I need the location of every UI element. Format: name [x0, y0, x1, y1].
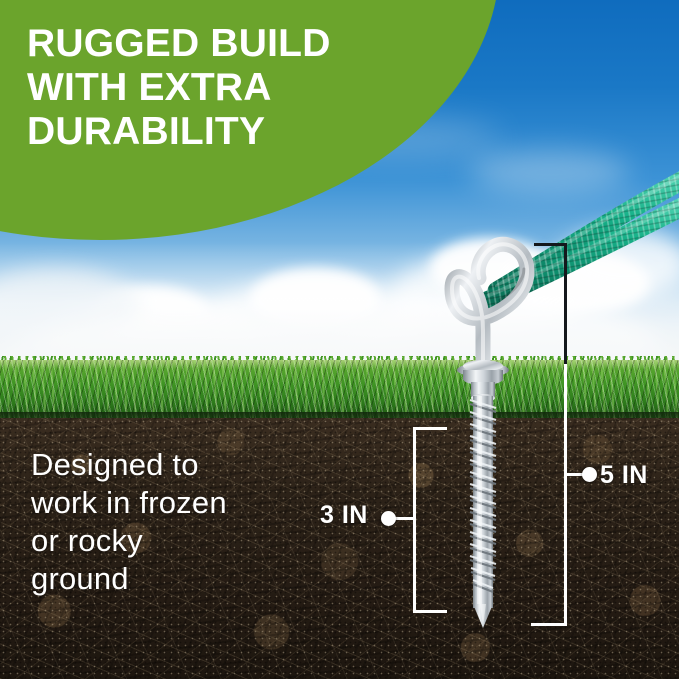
body-copy: Designed to work in frozen or rocky grou… — [31, 446, 331, 598]
bracket-5in-tick-bottom — [531, 623, 567, 626]
headline-line-3: DURABILITY — [27, 110, 417, 154]
body-copy-line-2: work in frozen — [31, 484, 331, 522]
headline-line-2: WITH EXTRA — [27, 66, 417, 110]
body-copy-line-3: or rocky — [31, 522, 331, 560]
body-copy-line-4: ground — [31, 560, 331, 598]
collar-washer — [457, 360, 509, 402]
leader-line-3in — [394, 517, 415, 520]
headline-line-1: RUGGED BUILD — [27, 22, 417, 66]
marketing-image: RUGGED BUILD WITH EXTRA DURABILITY Desig… — [0, 0, 679, 679]
threaded-shaft — [470, 396, 496, 628]
headline: RUGGED BUILD WITH EXTRA DURABILITY — [27, 22, 417, 154]
measurement-label-5in: 5 IN — [600, 461, 648, 490]
bracket-3in-vertical — [413, 427, 416, 613]
bracket-3in-tick-bottom — [413, 610, 447, 613]
body-copy-line-1: Designed to — [31, 446, 331, 484]
bracket-5in-tick-top — [534, 243, 567, 246]
marker-dot-3in — [381, 511, 396, 526]
measurement-label-3in: 3 IN — [320, 501, 368, 530]
marker-dot-5in — [582, 467, 597, 482]
bracket-5in-vertical-upper — [564, 243, 567, 368]
bracket-5in-vertical-lower — [564, 364, 567, 626]
bracket-3in-tick-top — [413, 427, 447, 430]
